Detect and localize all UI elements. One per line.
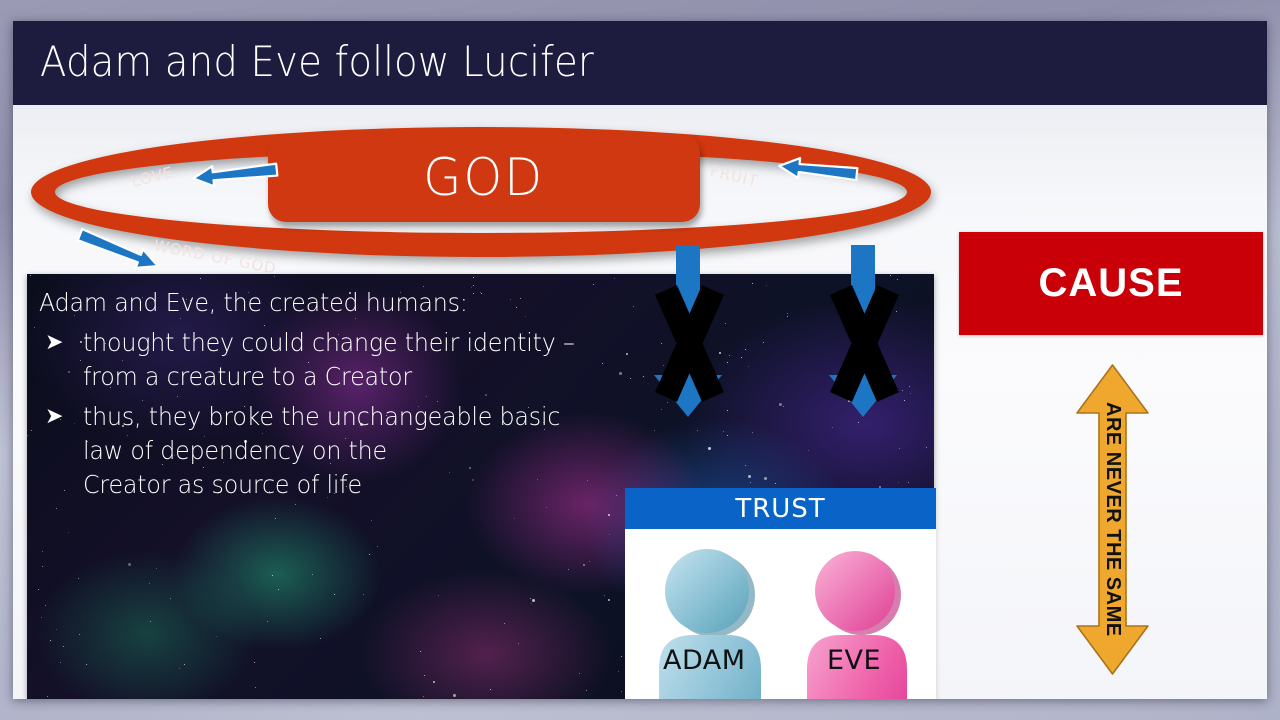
blue-arrow-love-icon	[191, 161, 279, 187]
slide: Adam and Eve follow Lucifer GOD LOVE WOR…	[13, 21, 1267, 699]
bullet-arrow-icon: ➤	[39, 400, 83, 502]
trust-label: TRUST	[735, 494, 825, 524]
trust-card-header: TRUST	[625, 488, 936, 529]
list-item: ➤ thus, they broke the unchangeable basi…	[39, 400, 639, 502]
figure-adam: ADAM	[639, 549, 779, 699]
intro-line: Adam and Eve, the created humans:	[39, 286, 609, 320]
list-item-text: thought they could change their identity…	[83, 326, 575, 394]
list-item-line: thus, they broke the unchangeable basic	[83, 400, 560, 434]
figure-eve: EVE	[785, 549, 925, 699]
god-box: GOD	[268, 134, 700, 222]
list-item-text: thus, they broke the unchangeable basic …	[83, 400, 560, 502]
figure-pair: ADAM	[625, 529, 936, 699]
list-item-line: Creator as source of life	[83, 468, 560, 502]
blue-arrow-word-of-god-icon	[73, 235, 163, 265]
bullet-text-block: Adam and Eve, the created humans: ➤ thou…	[39, 286, 639, 502]
slide-title-bar: Adam and Eve follow Lucifer	[13, 21, 1267, 105]
bullet-arrow-icon: ➤	[39, 326, 83, 394]
relation-label-wrapper: ARE NEVER THE SAME	[1074, 363, 1151, 676]
page-title: Adam and Eve follow Lucifer	[40, 35, 594, 89]
trust-card: TRUST	[625, 488, 936, 699]
list-item: ➤ thought they could change their identi…	[39, 326, 639, 394]
figure-eve-label: EVE	[827, 645, 881, 676]
list-item-line: from a creature to a Creator	[83, 360, 575, 394]
figure-adam-label: ADAM	[663, 645, 746, 676]
slide-body: GOD LOVE WORD OF GOD FRUIT	[13, 105, 1267, 699]
cause-label: CAUSE	[1038, 261, 1183, 306]
relation-label: ARE NEVER THE SAME	[1101, 402, 1124, 637]
cause-box: CAUSE	[959, 232, 1263, 335]
god-label: GOD	[424, 148, 545, 208]
presentation-viewport: Adam and Eve follow Lucifer GOD LOVE WOR…	[0, 0, 1280, 720]
blue-arrow-fruit-icon	[777, 157, 859, 183]
list-item-line: law of dependency on the	[83, 434, 560, 468]
list-item-line: thought they could change their identity…	[83, 326, 575, 360]
